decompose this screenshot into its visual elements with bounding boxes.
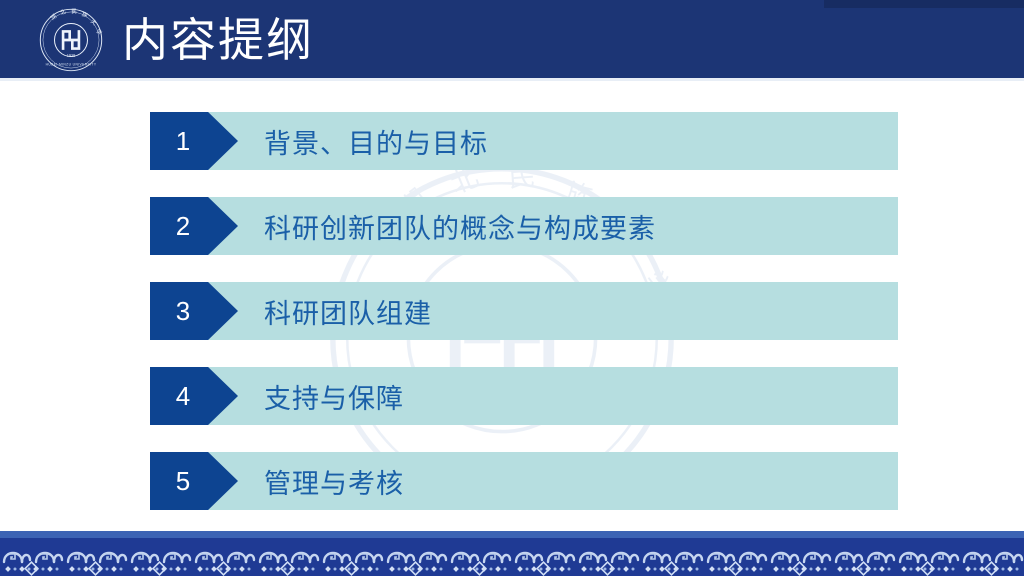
- row-background: [150, 282, 898, 340]
- svg-text:HUBEI MINZU UNIVERSITY: HUBEI MINZU UNIVERSITY: [46, 63, 97, 67]
- row-background: [150, 367, 898, 425]
- row-number: 1: [150, 112, 216, 170]
- row-label: 支持与保障: [264, 367, 404, 425]
- row-number: 4: [150, 367, 216, 425]
- slide-canvas: 1938 HUBEI MINZU UNIVERSITY 湖 北 民 族 大 学: [0, 0, 1024, 576]
- row-number: 3: [150, 282, 216, 340]
- list-item[interactable]: 4 支持与保障: [150, 367, 898, 425]
- row-label: 科研创新团队的概念与构成要素: [264, 197, 656, 255]
- row-background: [150, 452, 898, 510]
- page-title: 内容提纲: [122, 8, 314, 72]
- svg-text:北: 北: [59, 7, 68, 17]
- list-item[interactable]: 5 管理与考核: [150, 452, 898, 510]
- svg-text:民: 民: [71, 8, 77, 15]
- row-label: 管理与考核: [264, 452, 404, 510]
- svg-text:学: 学: [94, 27, 104, 37]
- list-item[interactable]: 3 科研团队组建: [150, 282, 898, 340]
- list-item[interactable]: 1 背景、目的与目标: [150, 112, 898, 170]
- list-item[interactable]: 2 科研创新团队的概念与构成要素: [150, 197, 898, 255]
- border-accent-line: [0, 531, 1024, 538]
- header-underline: [0, 78, 1024, 81]
- row-number: 5: [150, 452, 216, 510]
- row-background: [150, 112, 898, 170]
- row-number: 2: [150, 197, 216, 255]
- chinese-ornamental-border: [0, 531, 1024, 576]
- outline-list: 1 背景、目的与目标 2 科研创新团队的概念与构成要素 3 科研团队组建 4 支…: [0, 0, 1024, 576]
- header-corner-shade: [824, 0, 1024, 8]
- row-label: 科研团队组建: [264, 282, 432, 340]
- slide-header: 1938 HUBEI MINZU UNIVERSITY 湖 北 民 族 大 学 …: [0, 0, 1024, 78]
- row-label: 背景、目的与目标: [264, 112, 488, 170]
- university-seal-logo: 1938 HUBEI MINZU UNIVERSITY 湖 北 民 族 大 学: [34, 7, 108, 73]
- svg-text:1938: 1938: [67, 53, 76, 58]
